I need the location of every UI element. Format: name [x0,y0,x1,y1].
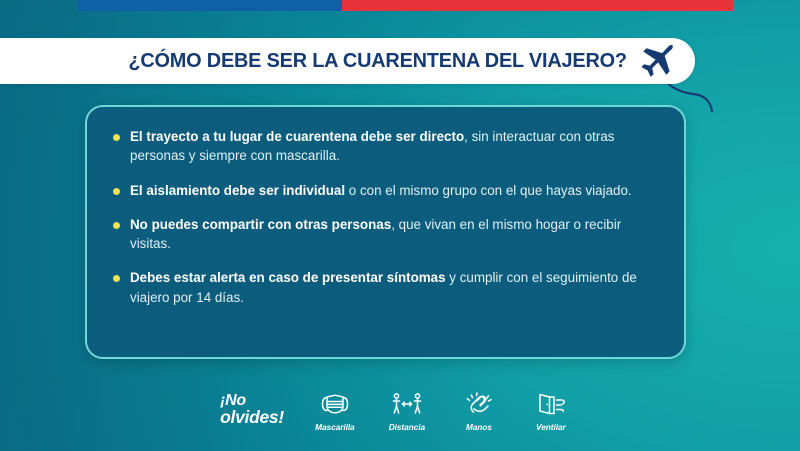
content-card: El trayecto a tu lugar de cuarentena deb… [85,105,686,359]
wash-hands-icon [463,389,495,419]
bullet-dot-icon [113,188,120,195]
list-item: Debes estar alerta en caso de presentar … [113,268,658,307]
red-stripe [342,0,733,11]
bullet-bold: El aislamiento debe ser individual [130,183,345,198]
list-item: El aislamiento debe ser individual o con… [113,181,658,200]
bullet-bold: El trayecto a tu lugar de cuarentena deb… [130,129,464,144]
list-item: El trayecto a tu lugar de cuarentena deb… [113,127,658,166]
social-distance-icon [391,389,423,419]
top-stripe-bar [0,0,800,11]
page-title: ¿CÓMO DEBE SER LA CUARENTENA DEL VIAJERO… [129,51,627,72]
measures-group: Mascarilla [306,389,580,432]
reminder-line-2: olvides! [220,409,284,427]
bullet-dot-icon [113,222,120,229]
measure-manos: Manos [450,389,508,432]
measure-mascarilla: Mascarilla [306,389,364,432]
bullet-text: Debes estar alerta en caso de presentar … [130,268,658,307]
list-item: No puedes compartir con otras personas, … [113,215,658,254]
bullet-bold: Debes estar alerta en caso de presentar … [130,270,446,285]
stripe-spacer-right [733,0,800,11]
stripe-spacer-left [0,0,78,11]
ventilate-window-icon [536,389,566,419]
bullet-dot-icon [113,134,120,141]
bullet-text: No puedes compartir con otras personas, … [130,215,658,254]
measure-distancia: Distancia [378,389,436,432]
reminder-label: ¡No olvides! [220,393,284,427]
measure-label: Manos [466,422,492,432]
bullet-bold: No puedes compartir con otras personas [130,217,391,232]
face-mask-icon [320,389,350,419]
airplane-icon [635,41,679,81]
footer-reminder-bar: ¡No olvides! [0,379,800,441]
measure-label: Mascarilla [315,422,355,432]
measure-label: Distancia [389,422,425,432]
title-banner: ¿CÓMO DEBE SER LA CUARENTENA DEL VIAJERO… [0,38,695,84]
bullet-list: El trayecto a tu lugar de cuarentena deb… [113,127,658,307]
measure-ventilar: Ventilar [522,389,580,432]
bullet-text: El aislamiento debe ser individual o con… [130,181,632,200]
bullet-text: El trayecto a tu lugar de cuarentena deb… [130,127,658,166]
blue-stripe [78,0,342,11]
measure-label: Ventilar [536,422,566,432]
bullet-dot-icon [113,275,120,282]
bullet-rest: o con el mismo grupo con el que hayas vi… [345,183,632,198]
poster-stage: ¿CÓMO DEBE SER LA CUARENTENA DEL VIAJERO… [0,0,800,451]
